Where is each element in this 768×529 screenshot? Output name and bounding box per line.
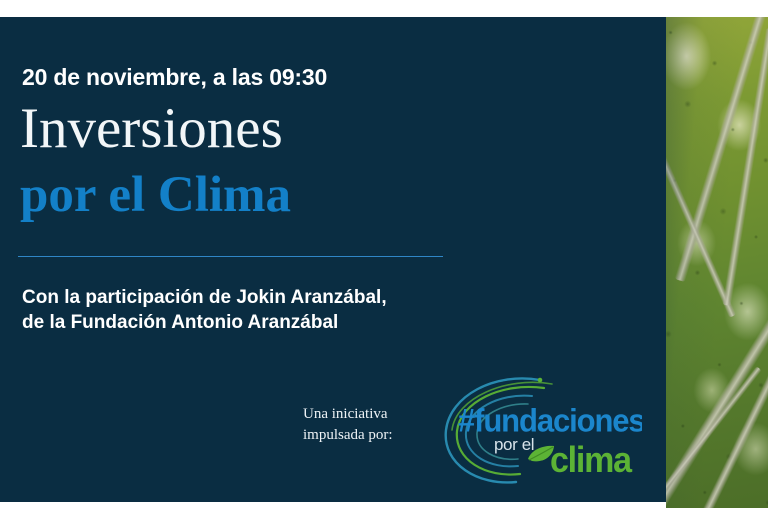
speaker-credit: Con la participación de Jokin Aranzábal,… xyxy=(22,285,387,336)
logo-hashtag-word: #fundaciones xyxy=(458,402,642,439)
forest-canopy-photo: forest-canopy-photo xyxy=(666,17,768,508)
poster-canvas: forest-canopy-photo 20 de noviembre, a l… xyxy=(0,0,768,529)
page-subtitle-accent: por el Clima xyxy=(20,170,291,221)
initiative-caption-line-1: Una iniciativa xyxy=(303,404,393,425)
photo-edge-shading xyxy=(666,17,768,508)
logo-accent-word: clima xyxy=(550,440,633,480)
fundaciones-por-el-clima-logo[interactable]: #fundaciones por el clima xyxy=(432,366,642,494)
initiative-caption: Una iniciativa impulsada por: xyxy=(303,404,393,445)
speaker-credit-line-2: de la Fundación Antonio Aranzábal xyxy=(22,310,387,335)
speaker-credit-line-1: Con la participación de Jokin Aranzábal, xyxy=(22,285,387,310)
initiative-caption-line-2: impulsada por: xyxy=(303,425,393,446)
event-date-time: 20 de noviembre, a las 09:30 xyxy=(22,64,327,91)
logo-sub-word: por el xyxy=(494,435,534,454)
horizontal-divider xyxy=(18,256,443,257)
page-title: Inversiones xyxy=(20,100,283,157)
